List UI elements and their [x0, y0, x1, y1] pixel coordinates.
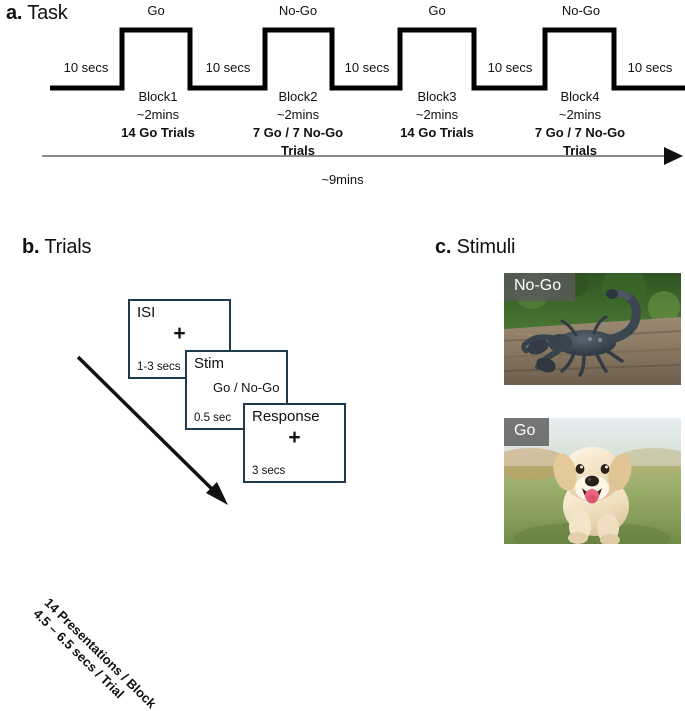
block-trials-2b: Trials [236, 142, 360, 160]
total-duration-label: ~9mins [0, 172, 685, 187]
rest-label-2: 10 secs [194, 60, 262, 75]
condition-label-4: No-Go [549, 3, 613, 18]
condition-label-3: Go [407, 3, 467, 18]
block-name-3: Block3 [375, 88, 499, 106]
block-duration-1: ~2mins [96, 106, 220, 124]
timeline-arrowhead [664, 147, 683, 165]
rest-label-5: 10 secs [617, 60, 683, 75]
trial-screen-isi-title: ISI [137, 304, 155, 321]
stimulus-tag-no-go: No-Go [504, 273, 575, 301]
panel-c-heading: c. Stimuli [435, 236, 515, 259]
rest-label-1: 10 secs [53, 60, 119, 75]
block-name-2: Block2 [236, 88, 360, 106]
trial-screen-isi-duration: 1-3 secs [137, 361, 180, 373]
trial-screen-stim-duration: 0.5 sec [194, 412, 231, 424]
task-panel: a. Task Go No-Go Go No-Go 10 secs 10 sec… [0, 0, 685, 215]
trial-screen-stim-subtitle: Go / No-Go [213, 380, 279, 395]
stimuli-panel: c. Stimuli [435, 225, 685, 544]
stimulus-tag-go: Go [504, 418, 549, 446]
block-trials-4: 7 Go / 7 No-Go [518, 124, 642, 142]
block-description-4: Block4 ~2mins 7 Go / 7 No-Go Trials [518, 88, 642, 160]
waveform-path [50, 30, 685, 88]
condition-label-2: No-Go [268, 3, 328, 18]
block-name-4: Block4 [518, 88, 642, 106]
block-duration-2: ~2mins [236, 106, 360, 124]
trials-panel: b. Trials 14 Presentations / Block 4.5 –… [0, 225, 420, 544]
trial-annotation-line-1: 14 Presentations / Block [41, 595, 159, 711]
stimulus-card-go: Go [504, 418, 681, 544]
trial-screen-response: Response + 3 secs [243, 403, 346, 483]
response-fixation-cross-icon: + [245, 427, 344, 448]
block-description-1: Block1 ~2mins 14 Go Trials [96, 88, 220, 142]
block-duration-3: ~2mins [375, 106, 499, 124]
block-trials-2: 7 Go / 7 No-Go [236, 124, 360, 142]
trial-screen-response-duration: 3 secs [252, 465, 285, 477]
rest-label-3: 10 secs [334, 60, 400, 75]
trial-screen-response-title: Response [252, 408, 320, 425]
rest-label-4: 10 secs [477, 60, 543, 75]
block-description-3: Block3 ~2mins 14 Go Trials [375, 88, 499, 142]
trial-screen-stim-title: Stim [194, 355, 224, 372]
stimulus-card-no-go: No-Go [504, 273, 681, 385]
block-trials-1: 14 Go Trials [96, 124, 220, 142]
block-trials-4b: Trials [518, 142, 642, 160]
panel-c-letter: c. [435, 236, 451, 258]
block-description-2: Block2 ~2mins 7 Go / 7 No-Go Trials [236, 88, 360, 160]
block-duration-4: ~2mins [518, 106, 642, 124]
condition-label-1: Go [126, 3, 186, 18]
block-name-1: Block1 [96, 88, 220, 106]
block-trials-3: 14 Go Trials [375, 124, 499, 142]
panel-c-title: Stimuli [457, 236, 516, 258]
fixation-cross-icon: + [130, 323, 229, 344]
